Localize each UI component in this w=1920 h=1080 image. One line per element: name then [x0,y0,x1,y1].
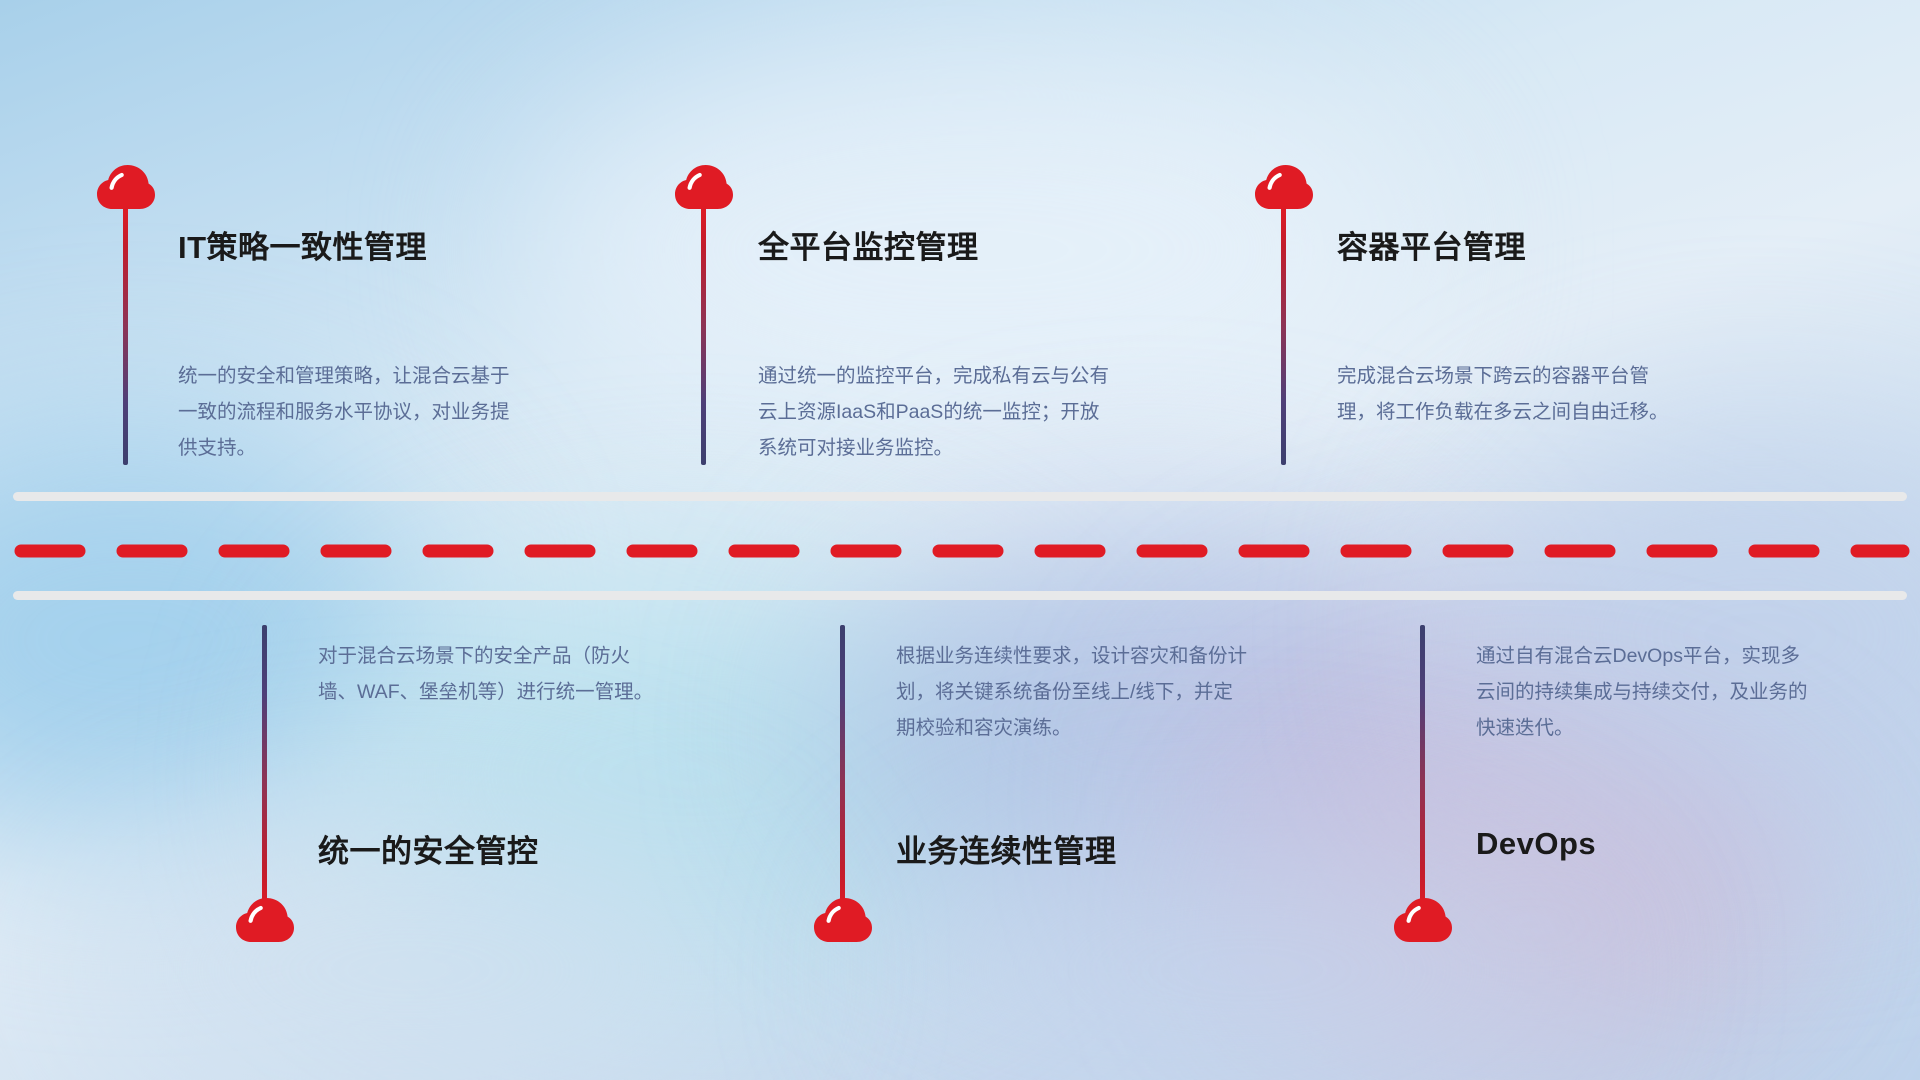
connector-stem [1281,205,1286,465]
connector-stem [123,205,128,465]
feature-heading: DevOps [1476,826,1596,862]
divider-dashed-line [14,544,1910,558]
feature-description: 根据业务连续性要求，设计容灾和备份计划，将关键系统备份至线上/线下，并定期校验和… [896,638,1248,746]
feature-description: 对于混合云场景下的安全产品（防火墙、WAF、堡垒机等）进行统一管理。 [318,638,658,710]
feature-description: 通过自有混合云DevOps平台，实现多云间的持续集成与持续交付，及业务的快速迭代… [1476,638,1816,746]
cloud-icon [812,895,874,943]
feature-heading: 业务连续性管理 [896,826,1117,871]
feature-description: 统一的安全和管理策略，让混合云基于一致的流程和服务水平协议，对业务提供支持。 [178,358,518,466]
cloud-icon [673,162,735,210]
connector-stem [840,625,845,915]
cloud-icon [1253,162,1315,210]
feature-heading: 容器平台管理 [1337,222,1526,267]
background-glow-right [1450,420,1920,850]
feature-description: 通过统一的监控平台，完成私有云与公有云上资源IaaS和PaaS的统一监控；开放系… [758,358,1110,466]
cloud-icon [95,162,157,210]
background-glow-midleft [330,560,1050,990]
feature-description: 完成混合云场景下跨云的容器平台管理，将工作负载在多云之间自由迁移。 [1337,358,1677,430]
feature-heading: 统一的安全管控 [318,826,539,871]
background-glow-lowerright [1250,760,1810,1080]
infographic-canvas: IT策略一致性管理 统一的安全和管理策略，让混合云基于一致的流程和服务水平协议，… [0,0,1920,1080]
cloud-icon [234,895,296,943]
cloud-icon [1392,895,1454,943]
feature-heading: IT策略一致性管理 [178,222,427,267]
connector-stem [701,205,706,465]
divider-rule-top [13,492,1907,501]
divider-rule-bottom [13,591,1907,600]
connector-stem [262,625,267,915]
feature-heading: 全平台监控管理 [758,222,979,267]
connector-stem [1420,625,1425,915]
